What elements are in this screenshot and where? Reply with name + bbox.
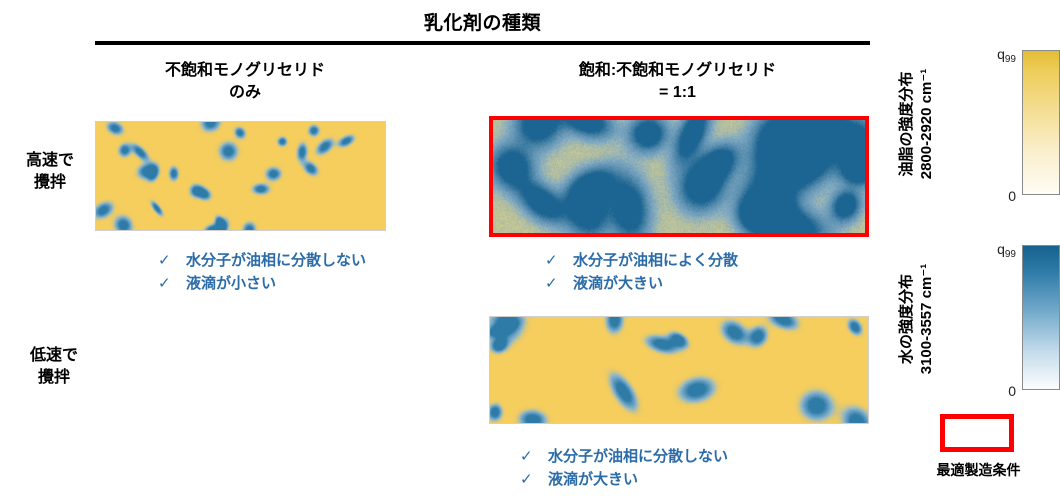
bullet-list-top-right: ✓ 水分子が油相によく分散 ✓ 液滴が大きい <box>545 250 738 295</box>
row-label-high-speed-stirring: 高速で 攪拌 <box>6 150 94 193</box>
legend-water-label: 水の強度分布 3100-3557 cm⁻¹ <box>897 243 967 395</box>
bullet-item: ✓ 水分子が油相に分散しない <box>520 446 728 469</box>
bullet-text: 水分子が油相に分散しない <box>548 446 728 469</box>
micrograph-canvas <box>96 122 385 230</box>
bullet-text: 液滴が大きい <box>573 273 663 296</box>
bullet-item: ✓ 液滴が大きい <box>545 273 738 296</box>
legend-label-line2: 2800-2920 cm⁻¹ <box>917 48 937 200</box>
column-header-unsaturated-only: 不飽和モノグリセリド のみ <box>95 60 395 103</box>
bullet-item: ✓ 液滴が小さい <box>158 273 366 296</box>
micrograph-top-right-optimal <box>489 116 869 237</box>
bullet-item: ✓ 水分子が油相に分散しない <box>158 250 366 273</box>
legend-tick-max: q99 <box>997 46 1016 62</box>
row-label-line1: 低速で <box>6 345 102 367</box>
check-icon: ✓ <box>158 273 186 296</box>
bullet-text: 水分子が油相に分散しない <box>186 250 366 273</box>
micrograph-canvas <box>490 317 868 423</box>
column-header-line1: 不飽和モノグリセリド <box>95 60 395 82</box>
column-header-line2: = 1:1 <box>480 82 875 104</box>
legend-oil-scale: q99 0 <box>965 48 1060 200</box>
micrograph-bottom-right <box>489 316 869 424</box>
row-label-line2: 攪拌 <box>6 367 102 389</box>
legend-water-intensity: 水の強度分布 3100-3557 cm⁻¹ q99 0 <box>897 243 1060 395</box>
bullet-list-bottom-right: ✓ 水分子が油相に分散しない ✓ 液滴が大きい <box>520 446 728 491</box>
bullet-text: 液滴が小さい <box>186 273 276 296</box>
check-icon: ✓ <box>158 250 186 273</box>
bullet-text: 液滴が大きい <box>548 469 638 492</box>
bullet-list-top-left: ✓ 水分子が油相に分散しない ✓ 液滴が小さい <box>158 250 366 295</box>
row-label-low-speed-stirring: 低速で 攪拌 <box>6 345 102 388</box>
legend-label-line1: 油脂の強度分布 <box>897 48 917 200</box>
check-icon: ✓ <box>545 250 573 273</box>
column-header-line1: 飽和:不飽和モノグリセリド <box>480 60 875 82</box>
legend-label-line2: 3100-3557 cm⁻¹ <box>917 243 937 395</box>
page-title: 乳化剤の種類 <box>95 8 870 35</box>
title-divider <box>95 41 870 45</box>
check-icon: ✓ <box>545 273 573 296</box>
check-icon: ✓ <box>520 446 548 469</box>
legend-colorbar-oil <box>1022 50 1060 195</box>
check-icon: ✓ <box>520 469 548 492</box>
bullet-text: 水分子が油相によく分散 <box>573 250 738 273</box>
row-label-line2: 攪拌 <box>6 172 94 194</box>
legend-oil-intensity: 油脂の強度分布 2800-2920 cm⁻¹ q99 0 <box>897 48 1060 200</box>
legend-tick-max: q99 <box>997 241 1016 257</box>
column-header-saturated-unsaturated-1to1: 飽和:不飽和モノグリセリド = 1:1 <box>480 60 875 103</box>
column-header-line2: のみ <box>95 82 395 104</box>
red-box-key-caption: 最適製造条件 <box>897 460 1060 480</box>
bullet-item: ✓ 液滴が大きい <box>520 469 728 492</box>
legend-tick-min: 0 <box>1008 188 1016 204</box>
legend-tick-min: 0 <box>1008 383 1016 399</box>
bullet-item: ✓ 水分子が油相によく分散 <box>545 250 738 273</box>
micrograph-top-left <box>95 121 386 231</box>
legend-oil-label: 油脂の強度分布 2800-2920 cm⁻¹ <box>897 48 967 200</box>
legend-water-scale: q99 0 <box>965 243 1060 395</box>
legend-label-line1: 水の強度分布 <box>897 243 917 395</box>
red-box-key-swatch <box>940 414 1014 452</box>
row-label-line1: 高速で <box>6 150 94 172</box>
legend-colorbar-water <box>1022 245 1060 390</box>
micrograph-canvas <box>493 120 865 233</box>
